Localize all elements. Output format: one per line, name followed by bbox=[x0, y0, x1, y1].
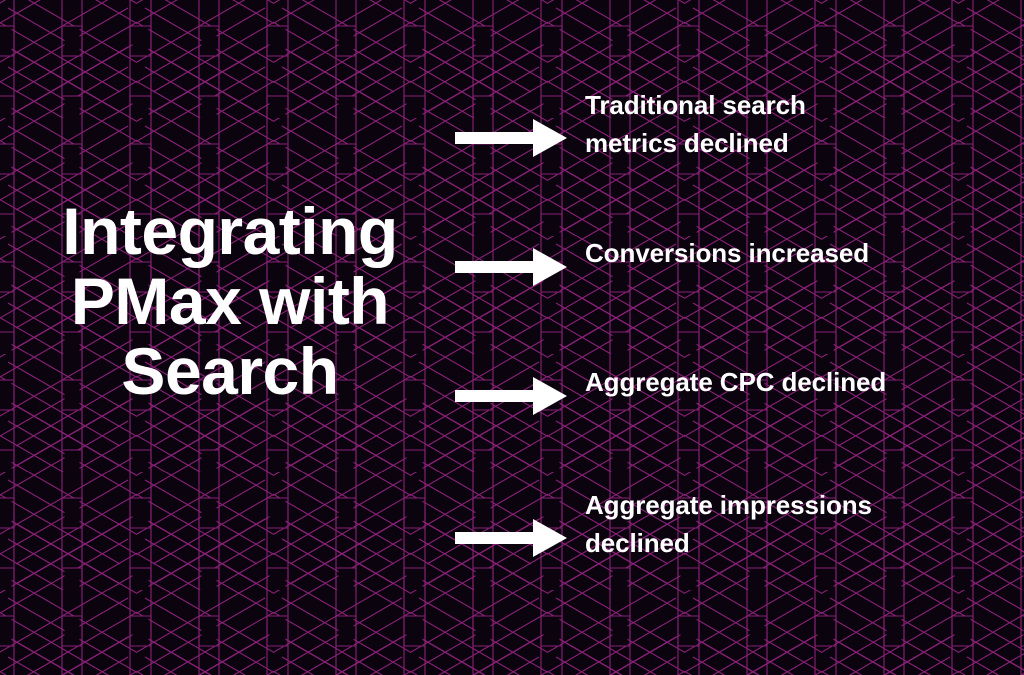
list-item: Aggregate CPC declined bbox=[455, 363, 925, 415]
list-item-label: Aggregate CPC declined bbox=[585, 363, 925, 401]
list-item-label: Conversions increased bbox=[585, 234, 925, 272]
title-line-3: Search bbox=[28, 336, 432, 406]
arrow-right-icon bbox=[455, 519, 567, 557]
list-item-line: declined bbox=[585, 524, 925, 562]
list-item-line: Traditional search bbox=[585, 86, 925, 124]
list-item-line: Aggregate impressions bbox=[585, 486, 925, 524]
infographic-slide: Integrating PMax with Search Traditional… bbox=[0, 0, 1024, 675]
list-item-line: metrics declined bbox=[585, 124, 925, 162]
arrow-right-icon bbox=[455, 248, 567, 286]
arrow-right-icon bbox=[455, 377, 567, 415]
title-line-2: PMax with bbox=[28, 266, 432, 336]
list-item-line: Aggregate CPC declined bbox=[585, 363, 925, 401]
page-title: Integrating PMax with Search bbox=[28, 196, 432, 406]
list-item-line: Conversions increased bbox=[585, 234, 925, 272]
list-item: Traditional search metrics declined bbox=[455, 86, 925, 162]
arrow-right-icon bbox=[455, 119, 567, 157]
list-item: Conversions increased bbox=[455, 234, 925, 286]
findings-list: Traditional search metrics declined Conv… bbox=[455, 86, 935, 596]
list-item: Aggregate impressions declined bbox=[455, 486, 925, 562]
list-item-label: Traditional search metrics declined bbox=[585, 86, 925, 162]
title-line-1: Integrating bbox=[28, 196, 432, 266]
list-item-label: Aggregate impressions declined bbox=[585, 486, 925, 562]
